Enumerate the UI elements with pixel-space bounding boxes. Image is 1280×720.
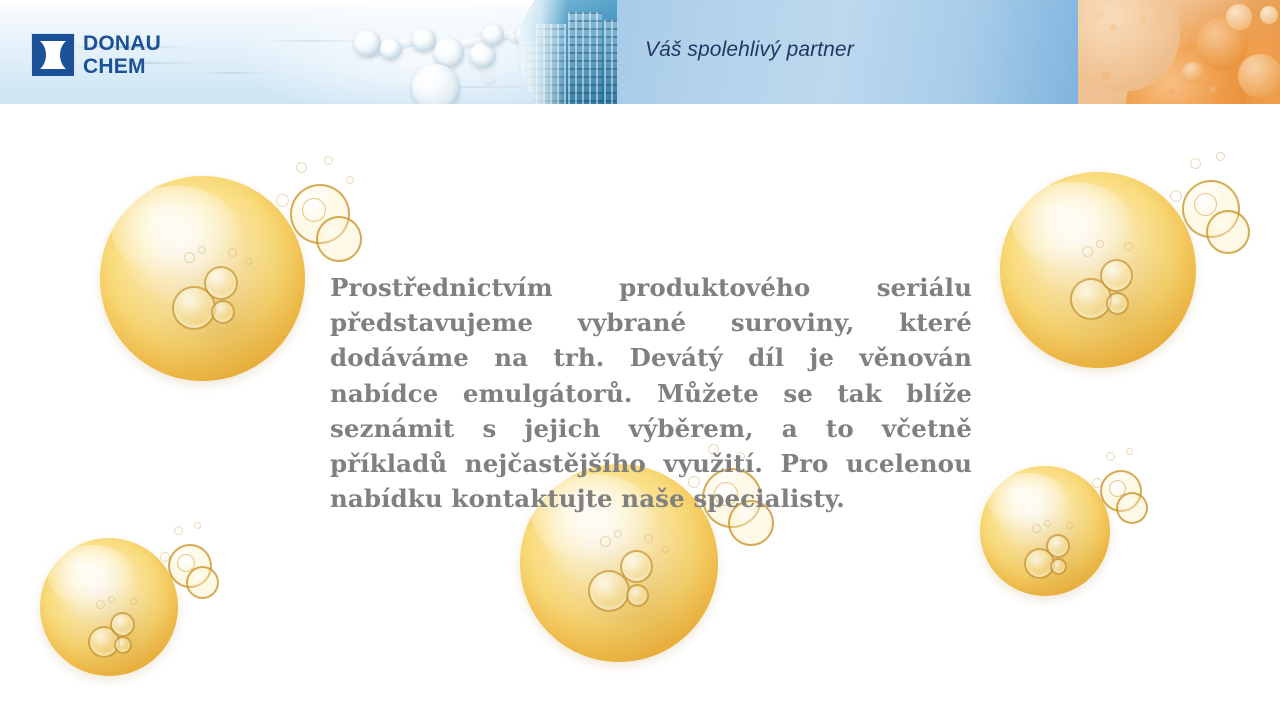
logo-text: DONAU CHEM: [83, 32, 161, 78]
oil-droplet-top-left: [100, 154, 360, 404]
logo-line-2: CHEM: [83, 55, 161, 78]
donau-chem-logo[interactable]: DONAU CHEM: [31, 33, 181, 79]
slide-body: Prostřednictvím produktového seriálu pře…: [0, 104, 1280, 720]
slide: Váš spolehlivý partner: [0, 0, 1280, 720]
oil-droplet-bottom-left: [40, 514, 230, 704]
logo-hourglass-icon: [31, 33, 75, 77]
slide-header: Váš spolehlivý partner: [0, 0, 1280, 104]
logo-line-1: DONAU: [83, 32, 161, 55]
oil-droplet-bottom-right: [980, 444, 1160, 624]
oil-droplet-top-right: [1000, 152, 1250, 392]
header-oil-photo: [1078, 0, 1280, 104]
main-paragraph: Prostřednictvím produktového seriálu pře…: [330, 270, 972, 516]
header-tagline: Váš spolehlivý partner: [645, 38, 854, 62]
